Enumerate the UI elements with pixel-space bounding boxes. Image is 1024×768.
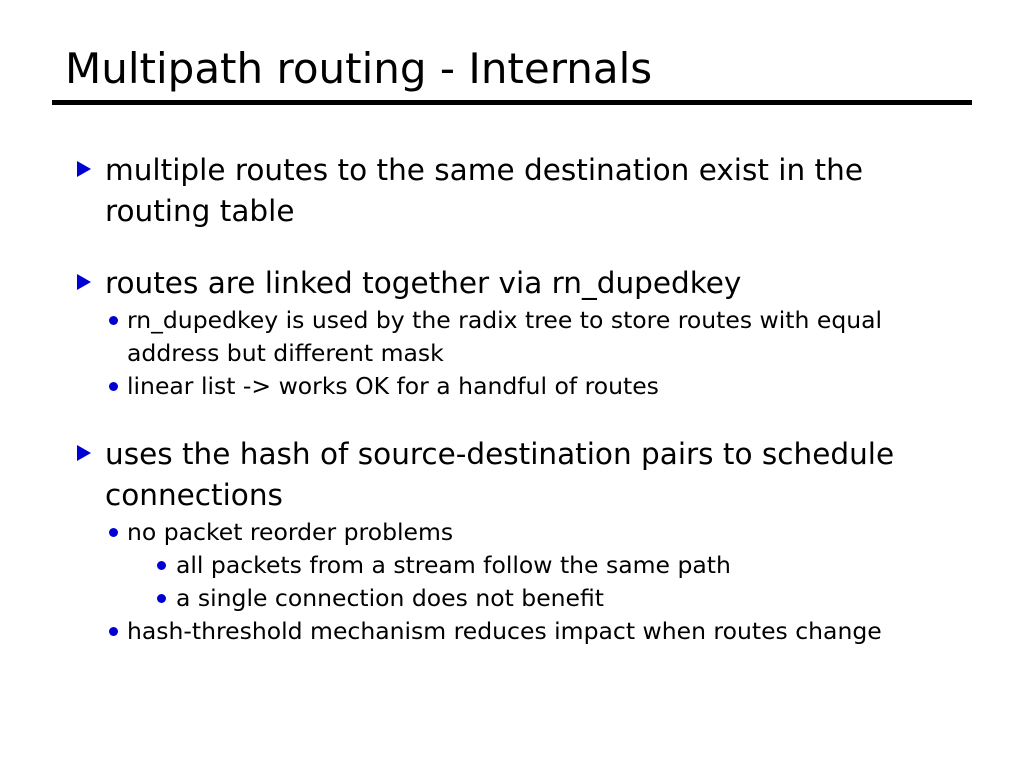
round-dot-icon — [109, 382, 118, 391]
bullet-level1: multiple routes to the same destination … — [0, 150, 1024, 232]
round-dot-icon — [157, 594, 166, 603]
title-block: Multipath routing - Internals — [52, 48, 972, 105]
bullet-level2: no packet reorder problems — [0, 516, 1024, 549]
slide: Multipath routing - Internals multiple r… — [0, 0, 1024, 768]
round-dot-icon — [109, 627, 118, 636]
bullet-level3-text: all packets from a stream follow the sam… — [176, 549, 909, 582]
bullet-level2-text: linear list -> works OK for a handful of… — [127, 370, 909, 403]
bullet-level1: uses the hash of source-destination pair… — [0, 434, 1024, 516]
bullet-level2: linear list -> works OK for a handful of… — [0, 370, 1024, 403]
bullet-group: multiple routes to the same destination … — [0, 150, 1024, 232]
bullet-level2: rn_dupedkey is used by the radix tree to… — [0, 304, 1024, 370]
round-dot-icon — [157, 561, 166, 570]
triangle-right-icon — [77, 161, 91, 177]
bullet-group: uses the hash of source-destination pair… — [0, 434, 1024, 648]
page-title: Multipath routing - Internals — [52, 48, 972, 90]
bullet-level1-text: routes are linked together via rn_dupedk… — [105, 263, 904, 304]
bullet-level3: all packets from a stream follow the sam… — [0, 549, 1024, 582]
bullet-level2-text: hash-threshold mechanism reduces impact … — [127, 615, 909, 648]
slide-body: multiple routes to the same destination … — [0, 150, 1024, 648]
round-dot-icon — [109, 528, 118, 537]
bullet-level2-text: rn_dupedkey is used by the radix tree to… — [127, 304, 909, 370]
triangle-right-icon — [77, 445, 91, 461]
bullet-level1: routes are linked together via rn_dupedk… — [0, 263, 1024, 304]
title-underline-rule — [52, 100, 972, 105]
triangle-right-icon — [77, 274, 91, 290]
round-dot-icon — [109, 316, 118, 325]
bullet-group: routes are linked together via rn_dupedk… — [0, 263, 1024, 403]
bullet-level2: hash-threshold mechanism reduces impact … — [0, 615, 1024, 648]
bullet-level3: a single connection does not benefit — [0, 582, 1024, 615]
bullet-level2-text: no packet reorder problems — [127, 516, 909, 549]
bullet-level3-text: a single connection does not benefit — [176, 582, 909, 615]
bullet-level1-text: multiple routes to the same destination … — [105, 150, 904, 232]
bullet-level1-text: uses the hash of source-destination pair… — [105, 434, 904, 516]
